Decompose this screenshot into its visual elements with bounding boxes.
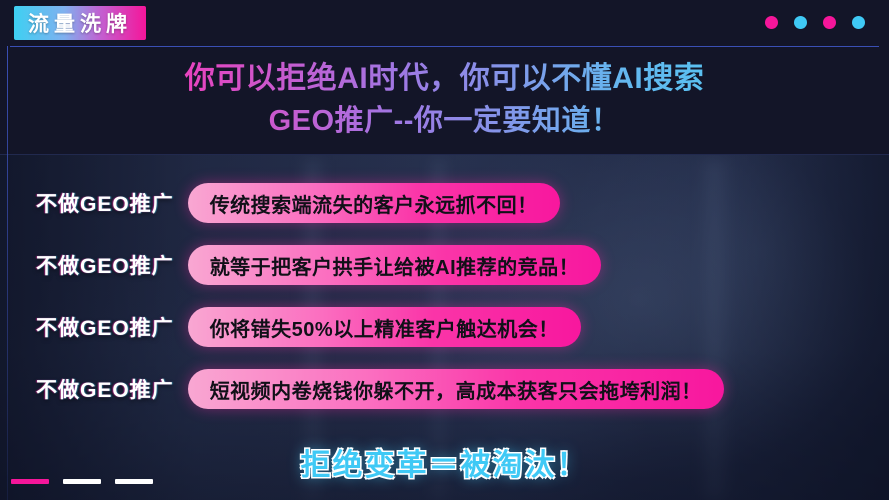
headline-line-1: 你可以拒绝AI时代，你可以不懂AI搜索 [0, 58, 889, 100]
progress-dash-2[interactable] [63, 479, 101, 484]
claim-pill: 就等于把客户拱手让给被AI推荐的竞品！ [188, 245, 602, 285]
headline-line-2: GEO推广--你一定要知道！ [0, 100, 889, 142]
logo-text: 流量洗牌 [28, 8, 132, 38]
logo-badge: 流量洗牌 [14, 6, 146, 40]
dot-icon-3 [823, 16, 836, 29]
dot-icon-4 [852, 16, 865, 29]
claim-label: 不做GEO推广 [36, 250, 174, 280]
claim-row: 不做GEO推广 传统搜索端流失的客户永远抓不回！ [0, 172, 889, 234]
claim-pill-text: 就等于把客户拱手让给被AI推荐的竞品！ [210, 251, 580, 280]
claim-label: 不做GEO推广 [36, 374, 174, 404]
header-divider-line [10, 46, 879, 47]
claim-pill: 你将错失50%以上精准客户触达机会！ [188, 307, 581, 347]
claim-pill-text: 短视频内卷烧钱你躲不开，高成本获客只会拖垮利润！ [210, 375, 702, 404]
claim-pill: 传统搜索端流失的客户永远抓不回！ [188, 183, 560, 223]
dot-icon-2 [794, 16, 807, 29]
conclusion-block: 拒绝变革＝被淘汰！ [0, 440, 889, 484]
claim-label: 不做GEO推广 [36, 312, 174, 342]
header-dot-row [765, 16, 865, 29]
claim-pill-text: 传统搜索端流失的客户永远抓不回！ [210, 189, 538, 218]
progress-dash-row[interactable] [11, 479, 153, 484]
claim-pill-text: 你将错失50%以上精准客户触达机会！ [210, 313, 559, 342]
claim-pill: 短视频内卷烧钱你躲不开，高成本获客只会拖垮利润！ [188, 369, 724, 409]
slide-canvas: 流量洗牌 你可以拒绝AI时代，你可以不懂AI搜索 GEO推广--你一定要知道！ … [0, 0, 889, 500]
headline-block: 你可以拒绝AI时代，你可以不懂AI搜索 GEO推广--你一定要知道！ [0, 58, 889, 142]
progress-dash-3[interactable] [115, 479, 153, 484]
claim-row: 不做GEO推广 你将错失50%以上精准客户触达机会！ [0, 296, 889, 358]
dot-icon-1 [765, 16, 778, 29]
conclusion-text: 拒绝变革＝被淘汰！ [0, 440, 889, 484]
progress-dash-active[interactable] [11, 479, 49, 484]
claim-row-list: 不做GEO推广 传统搜索端流失的客户永远抓不回！ 不做GEO推广 就等于把客户拱… [0, 172, 889, 420]
claim-row: 不做GEO推广 短视频内卷烧钱你躲不开，高成本获客只会拖垮利润！ [0, 358, 889, 420]
claim-row: 不做GEO推广 就等于把客户拱手让给被AI推荐的竞品！ [0, 234, 889, 296]
claim-label: 不做GEO推广 [36, 188, 174, 218]
